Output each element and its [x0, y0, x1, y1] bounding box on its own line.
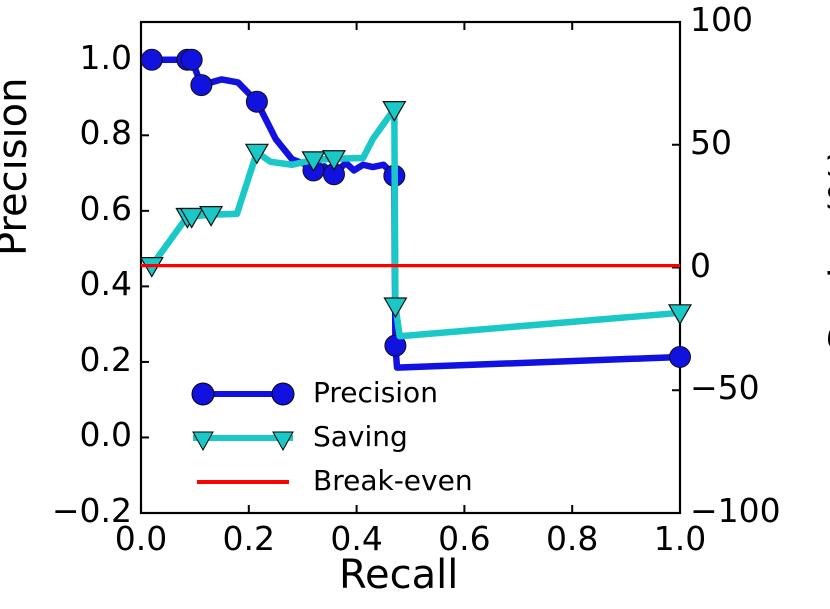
y-tick-label-right: 0: [690, 246, 711, 285]
y-tick-label-left: 0.8: [36, 113, 132, 152]
x-tick-label: 0.2: [219, 519, 279, 558]
data-point-marker: [191, 75, 212, 96]
legend-swatch-precision: [185, 372, 301, 416]
legend-swatch-breakeven: [185, 460, 301, 504]
data-point-marker: [141, 49, 162, 70]
y-axis-left-title: Precision: [0, 78, 36, 256]
y-tick-label-left: 0.4: [36, 264, 132, 303]
y-tick-label-right: 100: [690, 0, 753, 39]
legend-label-precision: Precision: [313, 376, 438, 409]
y-tick-label-left: 1.0: [36, 38, 132, 77]
x-tick-label: 0.8: [542, 519, 602, 558]
y-tick-label-left: 0.0: [36, 415, 132, 454]
data-point-marker: [246, 91, 267, 112]
figure-canvas: Precision Saving(%) Recall 0.00.20.40.60…: [0, 0, 830, 609]
x-tick-label: 0.4: [327, 519, 387, 558]
y-tick-label-left: 0.6: [36, 189, 132, 228]
y-tick-label-left: −0.2: [36, 491, 132, 530]
data-point-marker: [670, 347, 691, 368]
y-axis-right-title: Saving(%): [822, 147, 830, 352]
x-tick-label: 0.6: [434, 519, 494, 558]
legend-swatch-saving: [185, 416, 301, 460]
data-point-marker: [181, 49, 202, 70]
y-tick-label-left: 0.2: [36, 340, 132, 379]
y-tick-label-right: 50: [690, 123, 732, 162]
y-tick-label-right: −50: [690, 368, 760, 407]
x-axis-title: Recall: [339, 552, 458, 598]
y-tick-label-right: −100: [690, 491, 781, 530]
legend-label-breakeven: Break-even: [313, 464, 473, 497]
legend-label-saving: Saving: [313, 420, 408, 453]
